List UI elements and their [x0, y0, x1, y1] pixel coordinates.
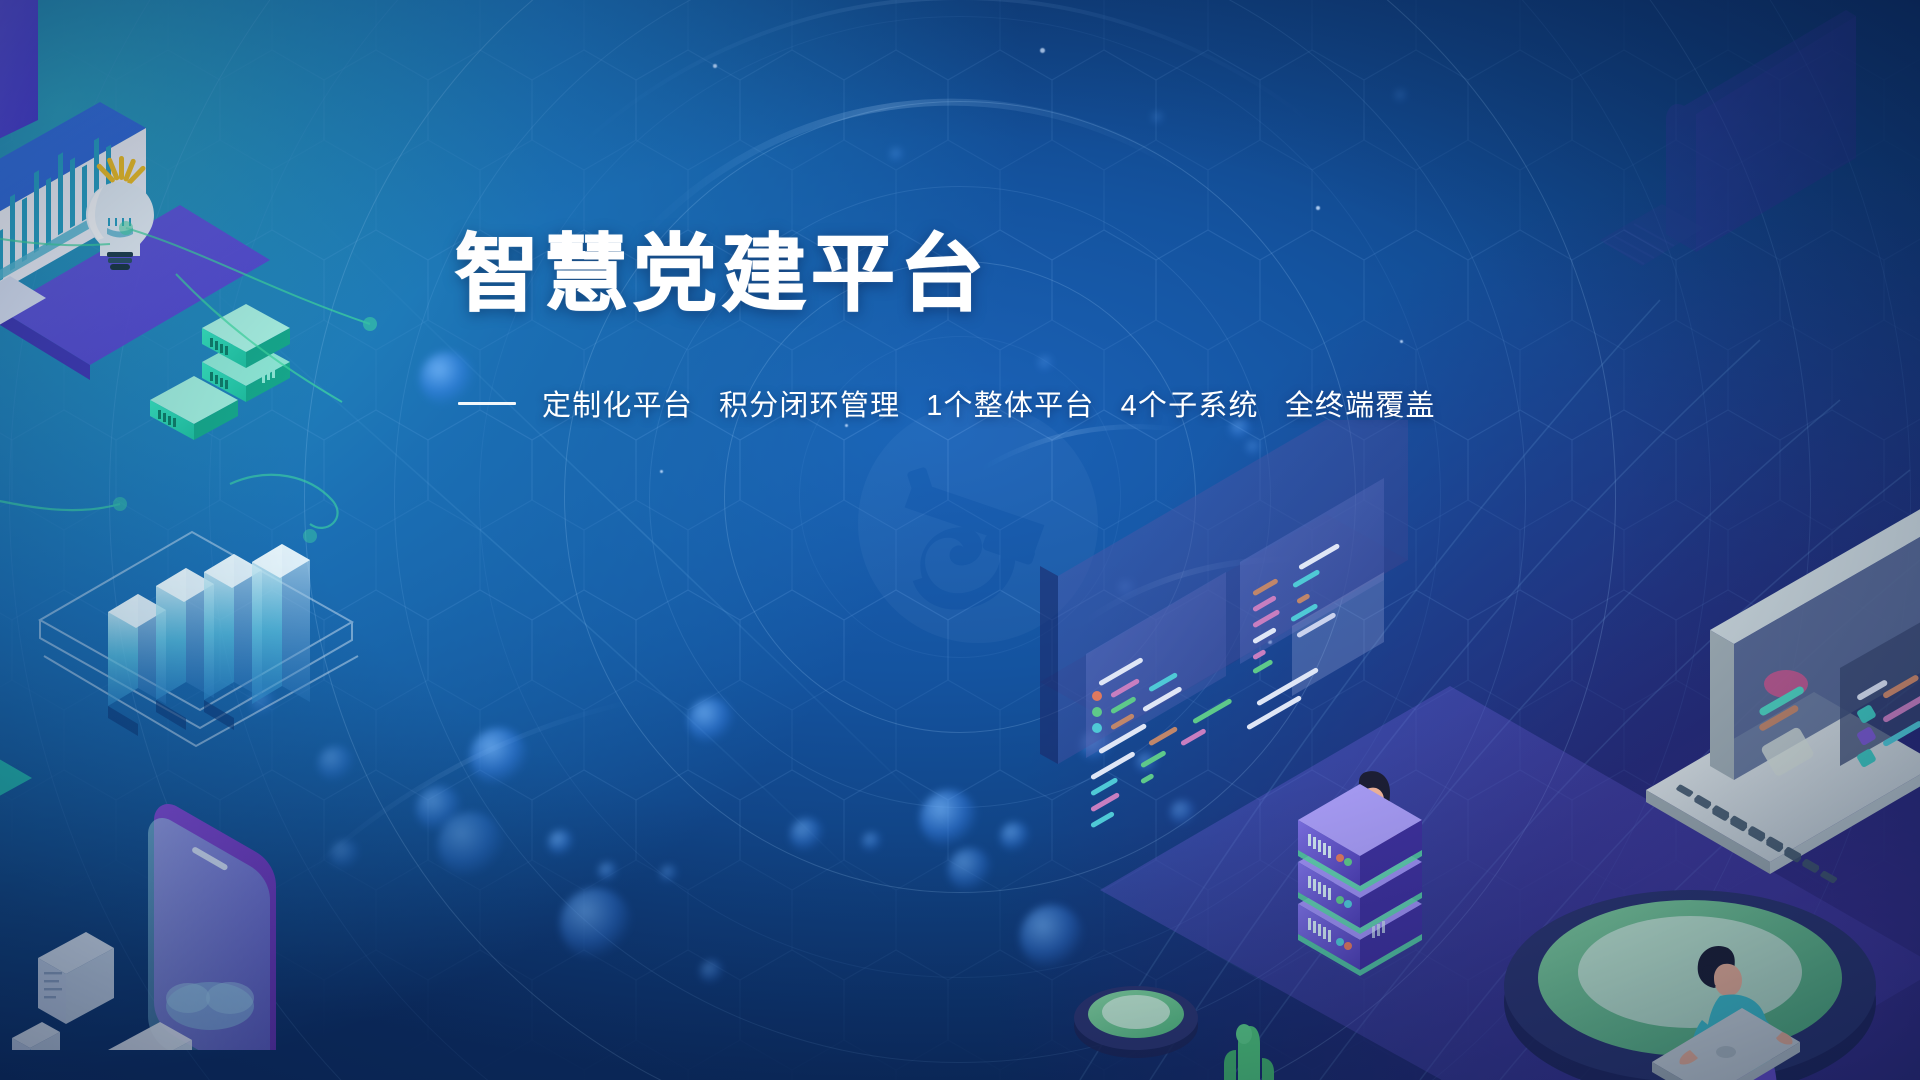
hero-banner: 智慧党建平台 定制化平台积分闭环管理1个整体平台4个子系统全终端覆盖 — [0, 0, 1920, 1080]
vignette-overlay — [0, 0, 1920, 1080]
